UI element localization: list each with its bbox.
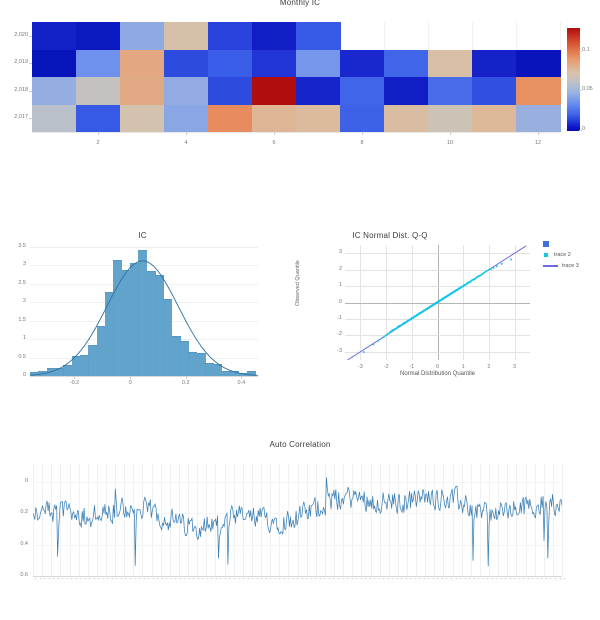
autocorrelation-line	[33, 463, 562, 576]
heatmap-cell[interactable]	[120, 105, 165, 133]
heatmap-y-tickmark	[29, 63, 32, 64]
heatmap-cell[interactable]	[208, 22, 253, 50]
heatmap-x-tickmark	[98, 132, 99, 135]
qq-y-tick: -1	[326, 315, 342, 321]
autocorrelation-plot-area	[33, 463, 562, 576]
histogram-x-axis-line	[30, 376, 258, 377]
heatmap-x-tick: 6	[264, 140, 284, 146]
heatmap-cell[interactable]	[164, 50, 209, 78]
qq-legend-label: trace 2	[554, 252, 571, 258]
histogram-y-tick: 0	[2, 372, 26, 378]
histogram-y-tick: 3	[2, 261, 26, 267]
heatmap-cell[interactable]	[164, 22, 209, 50]
heatmap-x-tickmark	[186, 132, 187, 135]
histogram-y-tick: 1.5	[2, 317, 26, 323]
heatmap-cell[interactable]	[208, 77, 253, 105]
heatmap-cell[interactable]	[428, 105, 473, 133]
qq-y-tick: -2	[326, 331, 342, 337]
histogram-y-tick: 3.5	[2, 243, 26, 249]
heatmap-cell[interactable]	[384, 50, 429, 78]
heatmap-cell[interactable]	[32, 50, 77, 78]
heatmap-cell[interactable]	[76, 105, 121, 133]
legend-dot-swatch	[544, 253, 548, 257]
qq-y-tick: -3	[326, 348, 342, 354]
heatmap-cell[interactable]	[340, 105, 385, 133]
heatmap-x-tickmark	[538, 132, 539, 135]
heatmap-x-tickmark	[450, 132, 451, 135]
histogram-x-tick: 0	[117, 380, 143, 386]
autocorrelation-y-tick: 0.2	[6, 509, 28, 515]
qq-y-tick: 3	[326, 249, 342, 255]
heatmap-title: Monthly IC	[0, 0, 600, 7]
ic-histogram-panel: IC 3.532.521.510.50 -0.200.20.4	[0, 225, 285, 385]
qq-x-tick: 3	[507, 364, 523, 370]
qq-x-tick: 0	[430, 364, 446, 370]
heatmap-y-tick: 2,020	[0, 32, 28, 38]
heatmap-x-tick: 2	[88, 140, 108, 146]
heatmap-colorbar	[566, 27, 581, 132]
heatmap-cell[interactable]	[340, 50, 385, 78]
heatmap-cell[interactable]	[76, 22, 121, 50]
qq-traces	[345, 245, 530, 360]
heatmap-cell[interactable]	[516, 50, 561, 78]
heatmap-x-tick: 4	[176, 140, 196, 146]
qq-legend-label: trace 3	[562, 263, 579, 269]
heatmap-row	[32, 77, 560, 105]
autocorrelation-y-tick: 0	[6, 478, 28, 484]
auto-correlation-panel: Auto Correlation 0.60.40.20 2016-01-0120…	[0, 425, 600, 612]
report-page: Monthly IC 2,0202,0192,0182,017 24681012…	[0, 0, 600, 612]
autocorrelation-y-tick: 0.4	[6, 541, 28, 547]
heatmap-cell[interactable]	[252, 105, 297, 133]
monthly-ic-heatmap-panel: Monthly IC 2,0202,0192,0182,017 24681012…	[0, 0, 600, 170]
histogram-y-tick: 1	[2, 335, 26, 341]
qq-y-axis-label: Observed Quantile	[295, 253, 301, 313]
heatmap-cell[interactable]	[208, 50, 253, 78]
heatmap-cell[interactable]	[120, 22, 165, 50]
heatmap-cell[interactable]	[252, 77, 297, 105]
qq-y-tick: 1	[326, 282, 342, 288]
heatmap-cell[interactable]	[76, 50, 121, 78]
colorbar-tickmark	[579, 130, 582, 131]
heatmap-cell[interactable]	[252, 50, 297, 78]
heatmap-cell[interactable]	[32, 77, 77, 105]
colorbar-tick: 0.05	[582, 86, 593, 92]
qq-legend-item[interactable]: trace 3	[543, 260, 579, 271]
heatmap-cell[interactable]	[296, 22, 341, 50]
histogram-y-tick: 2	[2, 298, 26, 304]
heatmap-row	[32, 50, 560, 78]
qq-y-tick: 2	[326, 266, 342, 272]
histogram-x-tickmark	[74, 376, 75, 379]
heatmap-cell[interactable]	[428, 77, 473, 105]
histogram-plot-area	[30, 243, 258, 376]
heatmap-cell[interactable]	[120, 50, 165, 78]
autocorrelation-gridline	[562, 463, 563, 576]
colorbar-tickmark	[579, 90, 582, 91]
heatmap-cell[interactable]	[120, 77, 165, 105]
qq-x-tick: 2	[481, 364, 497, 370]
heatmap-cell[interactable]	[296, 77, 341, 105]
heatmap-cell[interactable]	[384, 77, 429, 105]
heatmap-x-axis-line	[32, 132, 560, 133]
histogram-y-tick: 2.5	[2, 280, 26, 286]
qq-x-axis-label: Normal Distribution Quantile	[315, 371, 560, 377]
histogram-density-curve	[30, 243, 258, 376]
heatmap-cell[interactable]	[164, 105, 209, 133]
histogram-x-tick: 0.4	[228, 380, 254, 386]
heatmap-y-tickmark	[29, 91, 32, 92]
autocorrelation-x-tick: 2019-10-08	[562, 578, 573, 580]
heatmap-cell[interactable]	[516, 77, 561, 105]
heatmap-cell[interactable]	[340, 77, 385, 105]
qq-plot-panel: IC Normal Dist. Q-Q 3210-1-2-3 -3-2-1012…	[290, 225, 600, 390]
heatmap-cell[interactable]	[472, 50, 517, 78]
heatmap-cell[interactable]	[384, 105, 429, 133]
heatmap-cell[interactable]	[32, 105, 77, 133]
histogram-x-tickmark	[241, 376, 242, 379]
histogram-x-tick: -0.2	[61, 380, 87, 386]
heatmap-cell[interactable]	[252, 22, 297, 50]
heatmap-cell[interactable]	[516, 105, 561, 133]
heatmap-x-tick: 8	[352, 140, 372, 146]
qq-legend-item[interactable]: trace 2	[543, 249, 579, 260]
heatmap-y-tickmark	[29, 36, 32, 37]
legend-square-swatch	[543, 241, 549, 247]
heatmap-cell[interactable]	[76, 77, 121, 105]
qq-x-tick: -1	[404, 364, 420, 370]
histogram-x-tick: 0.2	[173, 380, 199, 386]
colorbar-tick: 0.1	[582, 47, 590, 53]
qq-x-tick: -3	[352, 364, 368, 370]
heatmap-cell[interactable]	[208, 105, 253, 133]
qq-legend-item[interactable]	[543, 238, 579, 249]
heatmap-cell[interactable]	[296, 105, 341, 133]
heatmap-cell[interactable]	[32, 22, 77, 50]
heatmap-cell[interactable]	[164, 77, 209, 105]
colorbar-tickmark	[579, 51, 582, 52]
qq-x-tick: 1	[455, 364, 471, 370]
histogram-x-tickmark	[130, 376, 131, 379]
qq-x-tick: -2	[378, 364, 394, 370]
heatmap-row	[32, 105, 560, 133]
heatmap-y-tickmark	[29, 118, 32, 119]
heatmap-cell[interactable]	[472, 105, 517, 133]
heatmap-y-tick: 2,018	[0, 87, 28, 93]
heatmap-x-tickmark	[274, 132, 275, 135]
colorbar-tick: 0	[582, 126, 585, 132]
heatmap-x-tick: 12	[528, 140, 548, 146]
qq-title: IC Normal Dist. Q-Q	[235, 231, 545, 240]
qq-legend[interactable]: trace 2trace 3	[543, 238, 579, 271]
autocorrelation-title: Auto Correlation	[0, 440, 600, 449]
qq-y-tick: 0	[326, 299, 342, 305]
autocorrelation-x-axis-labels: 2016-01-012016-02-082016-03-152016-04-22…	[33, 578, 593, 620]
heatmap-cell[interactable]	[472, 77, 517, 105]
autocorrelation-y-tick: 0.6	[6, 572, 28, 578]
heatmap-cell[interactable]	[428, 50, 473, 78]
heatmap-row	[32, 22, 560, 50]
qq-plot-area	[345, 245, 530, 360]
legend-line-swatch	[543, 265, 558, 267]
autocorrelation-x-axis-line	[33, 576, 562, 577]
heatmap-y-tick: 2,017	[0, 114, 28, 120]
heatmap-y-tick: 2,019	[0, 59, 28, 65]
histogram-y-tick: 0.5	[2, 354, 26, 360]
histogram-x-tickmark	[186, 376, 187, 379]
heatmap-cell[interactable]	[296, 50, 341, 78]
heatmap-x-tick: 10	[440, 140, 460, 146]
heatmap-x-tickmark	[362, 132, 363, 135]
